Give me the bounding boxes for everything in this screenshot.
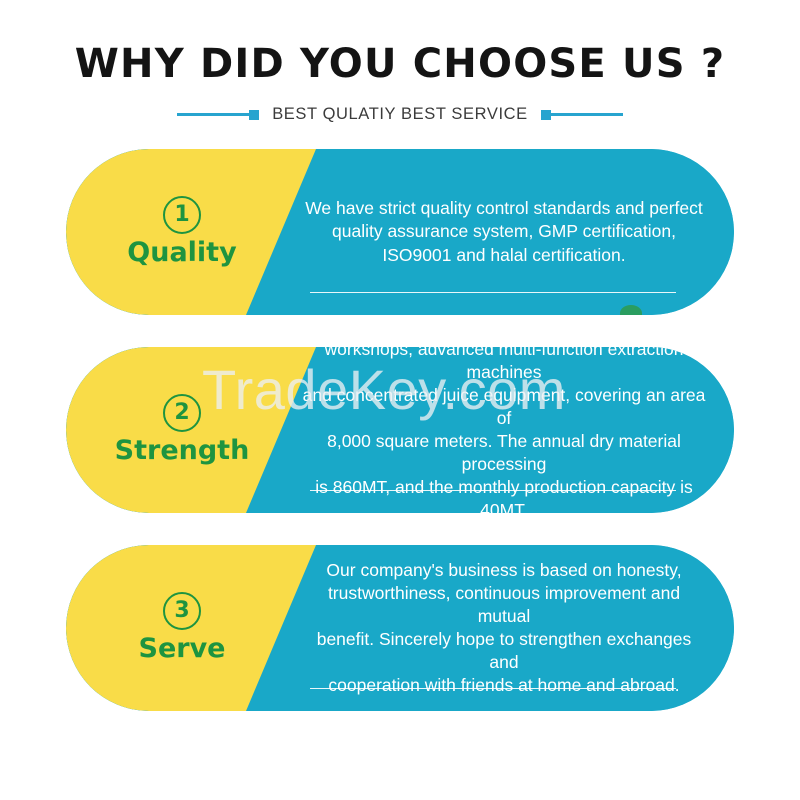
divider-cap-left-icon (249, 110, 259, 120)
feature-card: 1 Quality We have strict quality control… (66, 149, 734, 315)
card-number: 3 (174, 600, 189, 622)
page-subtitle: BEST QULATIY BEST SERVICE (259, 105, 541, 124)
card-body-text: Yi'an Beifeng Bio has two standardized p… (294, 347, 714, 513)
card-number-badge: 2 (163, 394, 201, 432)
feature-card: 3 Serve Our company's business is based … (66, 545, 734, 711)
card-underline (310, 490, 676, 491)
leaf-decoration-icon (620, 305, 642, 315)
divider-line-right (551, 113, 623, 116)
card-label: Quality (127, 238, 236, 268)
feature-card: 2 Strength Yi'an Beifeng Bio has two sta… (66, 347, 734, 513)
card-body-group: We have strict quality control standards… (302, 149, 706, 315)
page-header: WHY DID YOU CHOOSE US ? BEST QULATIY BES… (0, 0, 800, 124)
card-body-text: We have strict quality control standards… (302, 197, 706, 266)
card-heading-group: 3 Serve (66, 545, 298, 711)
card-underline (310, 688, 676, 689)
page-title: WHY DID YOU CHOOSE US ? (0, 44, 800, 84)
card-underline (310, 292, 676, 293)
card-number-badge: 1 (163, 196, 201, 234)
card-number: 1 (174, 204, 189, 226)
card-body-group: Our company's business is based on hones… (302, 545, 706, 711)
divider-line-left (177, 113, 249, 116)
subtitle-row: BEST QULATIY BEST SERVICE (0, 105, 800, 124)
card-number: 2 (174, 402, 189, 424)
card-label: Serve (139, 634, 226, 664)
card-label: Strength (115, 436, 250, 466)
card-body-group: Yi'an Beifeng Bio has two standardized p… (294, 347, 714, 513)
divider-cap-right-icon (541, 110, 551, 120)
card-body-text: Our company's business is based on hones… (302, 559, 706, 698)
card-heading-group: 1 Quality (66, 149, 298, 315)
card-heading-group: 2 Strength (66, 347, 298, 513)
card-number-badge: 3 (163, 592, 201, 630)
feature-card-list: 1 Quality We have strict quality control… (0, 149, 800, 711)
